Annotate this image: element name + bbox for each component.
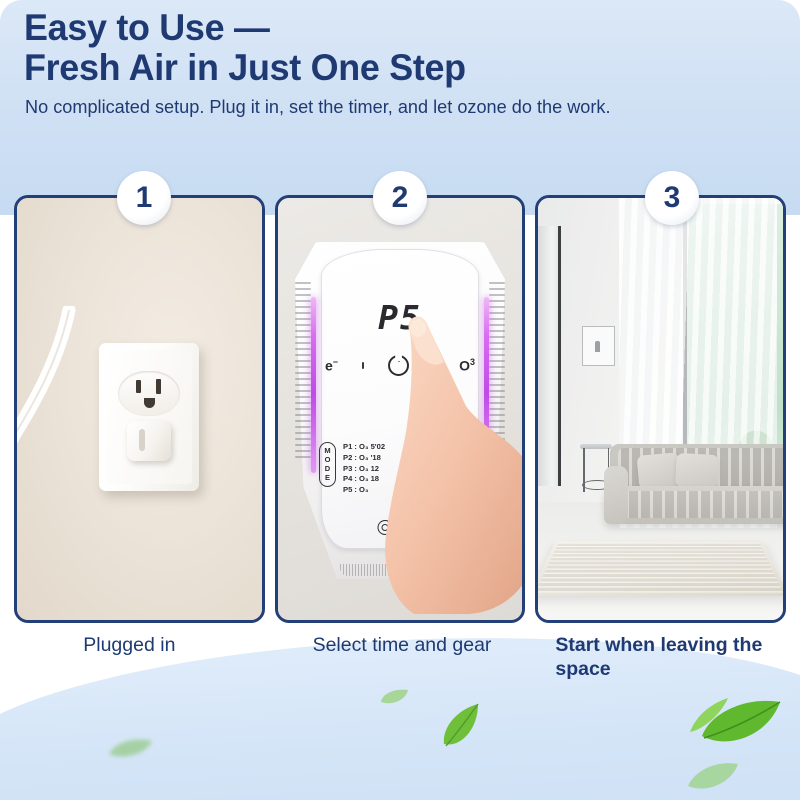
plug-notch	[139, 429, 145, 451]
page-subtitle: No complicated setup. Plug it in, set th…	[25, 95, 633, 120]
infographic-page: Easy to Use — Fresh Air in Just One Step…	[0, 0, 800, 800]
framed-artwork	[582, 326, 615, 366]
step-card-2: P5 e− O3 MODE P1 : O₃ 5'02 P2 : O₃ '18 P…	[275, 195, 526, 623]
sofa	[604, 444, 783, 536]
living-room-scene	[538, 198, 783, 620]
step-badge-2: 2	[373, 171, 427, 225]
plug-body	[127, 421, 171, 461]
socket-ground-hole	[144, 398, 155, 408]
step-caption-3: Start when leaving the space	[533, 630, 786, 700]
step-card-3	[535, 195, 786, 623]
leaf-icon	[686, 760, 740, 794]
socket-slot-left	[136, 380, 141, 393]
sofa-pillow	[675, 453, 719, 489]
plug-inserted	[121, 419, 177, 463]
leaf-icon	[438, 700, 484, 754]
step-badge-1: 1	[117, 171, 171, 225]
step-badge-3: 3	[645, 171, 699, 225]
anion-mode-button[interactable]: e−	[325, 357, 338, 374]
leaf-icon	[108, 738, 154, 760]
outlet-socket-top	[118, 371, 180, 416]
door-frame	[538, 226, 561, 486]
step-card-1	[14, 195, 265, 623]
step-caption-1: Plugged in	[14, 630, 277, 700]
indicator-dot-left	[362, 362, 364, 369]
steps-row: P5 e− O3 MODE P1 : O₃ 5'02 P2 : O₃ '18 P…	[14, 195, 786, 623]
mode-pill-label: MODE	[319, 442, 336, 487]
sofa-armrest	[604, 466, 628, 524]
leaf-icon	[686, 692, 782, 764]
hand-pressing-button	[374, 314, 526, 614]
sofa-seat	[604, 486, 783, 524]
step-caption-2: Select time and gear	[287, 630, 524, 700]
captions-row: Plugged in Select time and gear Start wh…	[14, 630, 786, 700]
page-title: Easy to Use — Fresh Air in Just One Step	[24, 8, 742, 87]
anion-superscript: −	[333, 357, 338, 367]
socket-slot-right	[156, 379, 161, 394]
